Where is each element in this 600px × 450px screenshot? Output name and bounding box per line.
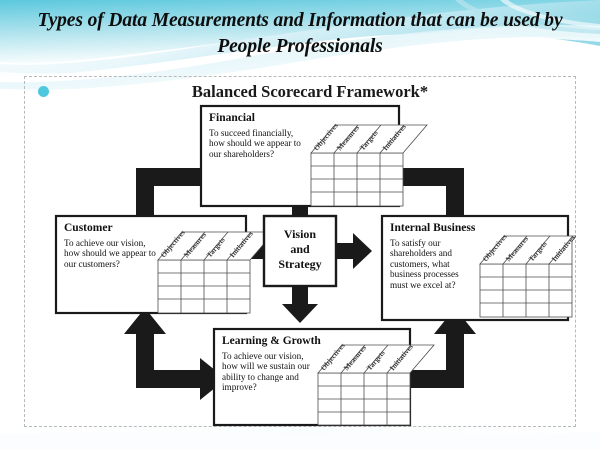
internal-business-title: Internal Business [390,222,486,234]
customer-title: Customer [64,222,160,234]
internal-business-grid: Objectives Measures Targets Initiatives [480,232,576,317]
internal-business-question: To satisfy our shareholders and customer… [390,238,478,290]
vision-strategy-text: Vision and Strategy [264,227,336,272]
elbow-arrow-bottom-left [124,308,226,400]
vision-line-1: Vision [264,227,336,242]
center-right-arrow [334,233,372,269]
financial-question: To succeed financially, how should we ap… [209,128,305,159]
balanced-scorecard-diagram: Objectives Measures Targets Initiatives [24,76,576,427]
learning-growth-question: To achieve our vision, how will we susta… [222,351,310,393]
footer-band-decoration [0,424,600,450]
learning-growth-box-text: Learning & Growth To achieve our vision,… [222,335,326,393]
financial-title: Financial [209,112,313,124]
internal-business-box-text: Internal Business To satisfy our shareho… [390,222,486,290]
customer-box-text: Customer To achieve our vision, how shou… [64,222,160,269]
bullet-dot-icon [38,86,49,97]
financial-grid: Objectives Measures Targets Initiatives [311,121,427,206]
learning-growth-title: Learning & Growth [222,335,326,347]
vision-line-3: Strategy [264,257,336,272]
slide-title: Types of Data Measurements and Informati… [24,8,576,60]
financial-box-text: Financial To succeed financially, how sh… [209,112,313,159]
customer-question: To achieve our vision, how should we app… [64,238,156,269]
diagram-heading: Balanced Scorecard Framework* [100,82,520,102]
center-down-arrow [282,285,318,323]
vision-line-2: and [264,242,336,257]
customer-grid: Objectives Measures Targets Initiatives [158,228,274,313]
